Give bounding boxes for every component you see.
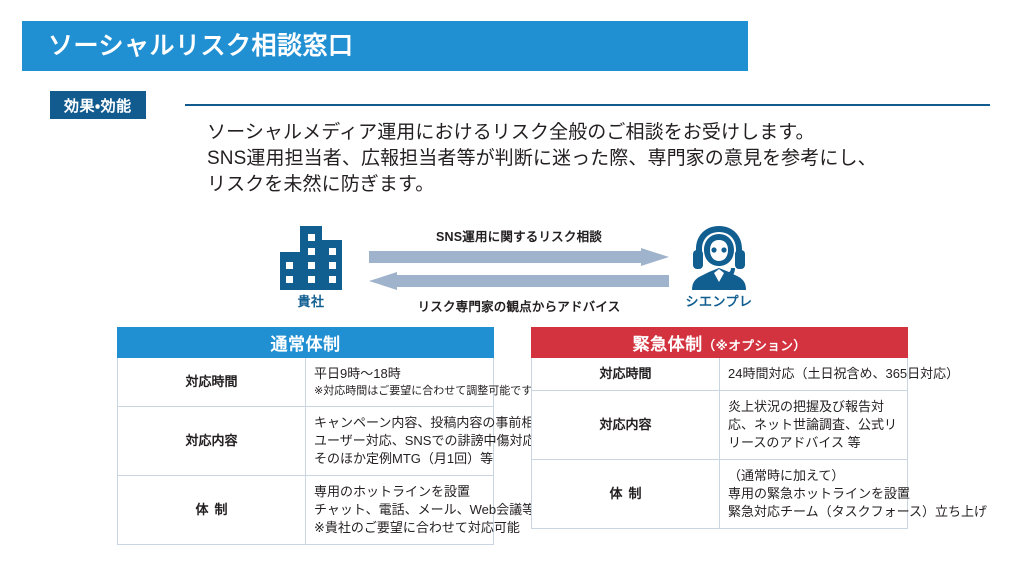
row-key: 体制 (532, 460, 720, 529)
row-value-line: （通常時に加えて） (728, 467, 899, 485)
table-row: 体制 （通常時に加えて） 専用の緊急ホットラインを設置 緊急対応チーム（タスクフ… (532, 460, 908, 529)
arrow-right-icon (369, 248, 669, 266)
lead-line-2: SNS運用担当者、広報担当者等が判断に迷った際、専門家の意見を参考にし、 (207, 146, 1007, 172)
office-building-icon (265, 224, 357, 290)
row-key: 対応内容 (118, 407, 306, 476)
row-value: （通常時に加えて） 専用の緊急ホットラインを設置 緊急対応チーム（タスクフォース… (720, 460, 908, 529)
row-value-line: 専用のホットラインを設置 (314, 483, 485, 501)
row-key: 対応時間 (532, 358, 720, 391)
table-row: 対応内容 キャンペーン内容、投稿内容の事前相談、 ユーザー対応、SNSでの誹謗中… (118, 407, 494, 476)
row-value-line: チャット、電話、メール、Web会議等 (314, 501, 485, 519)
row-value-line: ユーザー対応、SNSでの誹謗中傷対応、 (314, 432, 485, 450)
flow-diagram: 貴社 SNS運用に関するリスク相談 リスク専門家の観点からアドバイス (265, 224, 765, 316)
row-value-line: 緊急対応チーム（タスクフォース）立ち上げ (728, 503, 899, 521)
table-row: 体制 専用のホットラインを設置 チャット、電話、メール、Web会議等 ※貴社のご… (118, 476, 494, 545)
arrow-left-icon (369, 272, 669, 290)
arrow-caption-inbound: リスク専門家の観点からアドバイス (369, 296, 669, 315)
row-value: 24時間対応（土日祝含め、365日対応） (720, 358, 908, 391)
table-row: 対応時間 24時間対応（土日祝含め、365日対応） (532, 358, 908, 391)
row-value-line: 専用の緊急ホットラインを設置 (728, 485, 899, 503)
row-value: 平日9時〜18時 ※対応時間はご要望に合わせて調整可能です。 (306, 358, 494, 407)
section-divider (185, 104, 990, 106)
row-value: 炎上状況の把握及び報告対応、ネット世論調査、公式リリースのアドバイス 等 (720, 391, 908, 460)
table-row: 対応内容 炎上状況の把握及び報告対応、ネット世論調査、公式リリースのアドバイス … (532, 391, 908, 460)
row-value: キャンペーン内容、投稿内容の事前相談、 ユーザー対応、SNSでの誹謗中傷対応、 … (306, 407, 494, 476)
normal-regime-table: 通常体制 対応時間 平日9時〜18時 ※対応時間はご要望に合わせて調整可能です。… (117, 327, 494, 545)
section-badge: 効果・効能 (50, 91, 146, 119)
row-value: 専用のホットラインを設置 チャット、電話、メール、Web会議等 ※貴社のご要望に… (306, 476, 494, 545)
row-value-line: 平日9時〜18時 (314, 365, 485, 383)
emergency-table-header: 緊急体制（※オプション） (532, 328, 908, 358)
flow-node-client: 貴社 (265, 224, 357, 310)
row-value-line: ※貴社のご要望に合わせて対応可能 (314, 519, 485, 537)
lead-line-3: リスクを未然に防ぎます。 (207, 172, 1007, 198)
emergency-regime-table: 緊急体制（※オプション） 対応時間 24時間対応（土日祝含め、365日対応） 対… (531, 327, 908, 529)
row-value-note: ※対応時間はご要望に合わせて調整可能です。 (314, 383, 485, 399)
emergency-table-header-sub: （※オプション） (703, 339, 807, 353)
table-header-row: 緊急体制（※オプション） (532, 328, 908, 358)
headset-operator-icon (673, 224, 765, 290)
row-key: 対応内容 (532, 391, 720, 460)
slide-title-bar: ソーシャルリスク相談窓口 (22, 21, 748, 71)
table-row: 対応時間 平日9時〜18時 ※対応時間はご要望に合わせて調整可能です。 (118, 358, 494, 407)
flow-node-provider: シエンプレ (673, 224, 765, 310)
row-value-line: そのほか定例MTG（月1回）等 (314, 450, 485, 468)
row-value-line: 炎上状況の把握及び報告対応、ネット世論調査、公式リリースのアドバイス 等 (728, 398, 899, 452)
lead-line-1: ソーシャルメディア運用におけるリスク全般のご相談をお受けします。 (207, 120, 1007, 146)
row-value-line: キャンペーン内容、投稿内容の事前相談、 (314, 414, 485, 432)
lead-paragraph: ソーシャルメディア運用におけるリスク全般のご相談をお受けします。 SNS運用担当… (207, 120, 1007, 198)
flow-node-provider-label: シエンプレ (673, 291, 765, 310)
normal-table-header: 通常体制 (118, 328, 494, 358)
flow-arrows: SNS運用に関するリスク相談 リスク専門家の観点からアドバイス (369, 224, 669, 316)
table-header-row: 通常体制 (118, 328, 494, 358)
emergency-table-header-text: 緊急体制 (633, 335, 703, 354)
row-value-line: 24時間対応（土日祝含め、365日対応） (728, 365, 899, 383)
arrow-caption-outbound: SNS運用に関するリスク相談 (369, 226, 669, 245)
normal-table-header-text: 通常体制 (271, 335, 341, 354)
section-header: 効果・効能 (50, 91, 990, 119)
page-title: ソーシャルリスク相談窓口 (22, 34, 354, 59)
row-key: 体制 (118, 476, 306, 545)
flow-node-client-label: 貴社 (265, 291, 357, 310)
row-key: 対応時間 (118, 358, 306, 407)
